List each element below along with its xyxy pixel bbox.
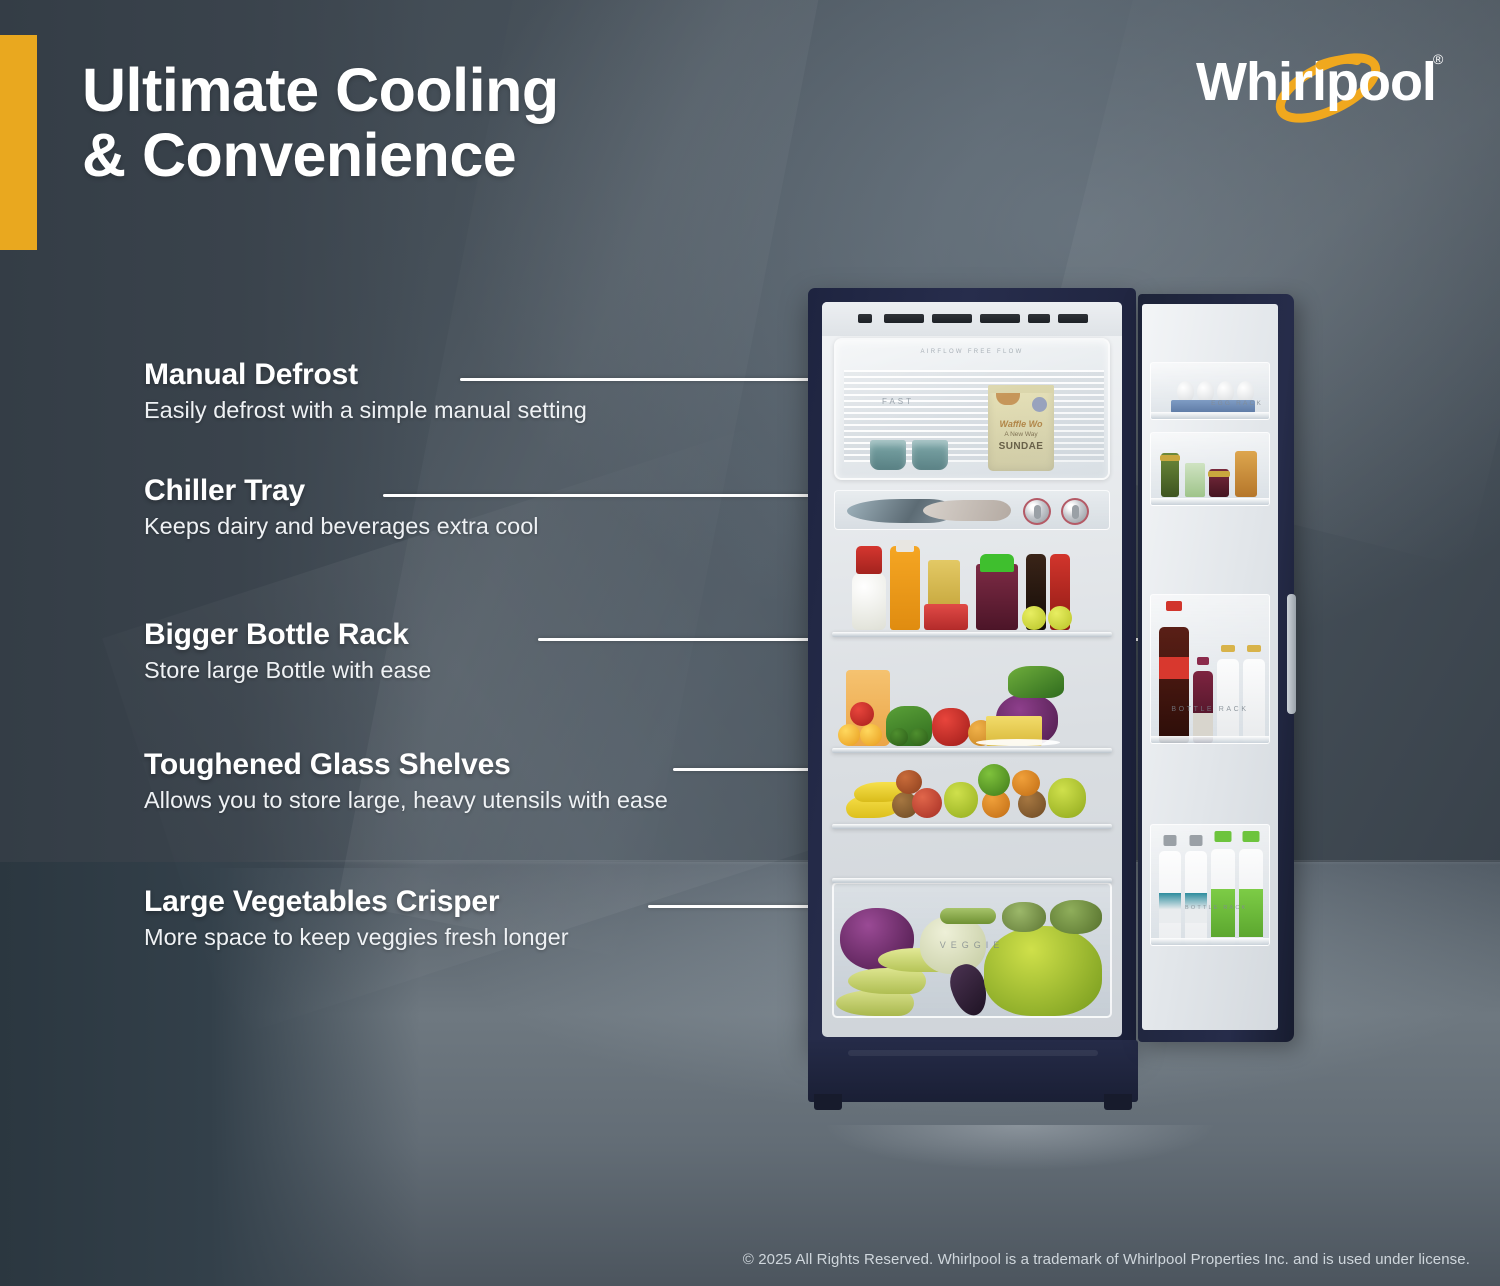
jar-lid — [980, 554, 1014, 572]
vent-slot — [1028, 314, 1050, 323]
ice-bowl — [870, 440, 906, 470]
infographic-canvas: Ultimate Cooling & Convenience Whirlpool… — [0, 0, 1500, 1286]
pickle-jar — [928, 560, 960, 608]
ice-cream-tub: Waffle Wo A New Way SUNDAE — [988, 385, 1054, 471]
grape-jar — [976, 564, 1018, 630]
feature-title: Manual Defrost — [144, 358, 587, 392]
feature-bigger-bottle-rack: Bigger Bottle Rack Store large Bottle wi… — [144, 618, 431, 684]
glass-shelf — [832, 632, 1112, 637]
jar-lid — [1160, 455, 1180, 461]
bottle-cap — [1197, 657, 1209, 665]
cola-bottle — [1159, 627, 1189, 743]
feature-description: Store large Bottle with ease — [144, 657, 431, 684]
tub-lid — [988, 385, 1054, 393]
bottle-cap — [1243, 831, 1260, 842]
kiwi — [896, 770, 922, 794]
milk-bottle — [1243, 659, 1265, 743]
door-bin-egg-rack: EGG RACK — [1150, 362, 1270, 420]
leader-line-chiller-tray — [383, 494, 867, 497]
airflow-label: AIRFLOW FREE FLOW — [836, 349, 1108, 355]
floor-reflection — [760, 1125, 1280, 1245]
cheese-plate — [976, 739, 1060, 746]
door-bin-bottle-rack: BOTTLE RACK — [1150, 594, 1270, 744]
tub-label-line-1: Waffle Wo — [988, 419, 1054, 429]
refrigerator-product-image: Waffle Wo A New Way SUNDAE AIRFLOW FREE … — [808, 288, 1294, 1100]
leafy-greens — [1008, 666, 1064, 698]
base-groove — [848, 1050, 1098, 1056]
mushroom-pack — [852, 572, 886, 630]
chiller-tray — [834, 490, 1110, 530]
green-label — [1211, 889, 1235, 937]
tub-badge-icon — [1032, 397, 1047, 412]
bottle-cap — [1164, 835, 1177, 846]
refrigerator-interior: Waffle Wo A New Way SUNDAE AIRFLOW FREE … — [822, 302, 1122, 1037]
orange — [838, 724, 860, 746]
shelf-zone-produce — [836, 642, 1108, 746]
whirlpool-logo: Whirlpool ® — [1190, 38, 1458, 128]
bottle-cap — [1247, 645, 1261, 652]
bin-lip — [1151, 412, 1269, 419]
jar-lid — [1208, 471, 1230, 477]
crisper-top-rail — [832, 878, 1112, 883]
egg-rack-label: EGG RACK — [1211, 400, 1263, 407]
refrigerator-foot — [814, 1094, 842, 1110]
juice-label — [1193, 713, 1213, 737]
logo-wordmark: Whirlpool — [1196, 52, 1436, 112]
vent-slot — [932, 314, 972, 323]
door-interior: EGG RACK BOTTLE RACK — [1142, 304, 1278, 1030]
lime — [890, 728, 908, 746]
feature-large-vegetables-crisper: Large Vegetables Crisper More space to k… — [144, 885, 569, 951]
vent-slot — [884, 314, 924, 323]
orange — [860, 724, 882, 746]
green-cabbage — [1002, 902, 1046, 932]
bell-pepper — [932, 708, 970, 746]
pear — [944, 782, 978, 818]
vent-slot — [980, 314, 1020, 323]
feature-chiller-tray: Chiller Tray Keeps dairy and beverages e… — [144, 474, 539, 540]
cola-label — [1159, 657, 1189, 679]
yogurt-tub — [1185, 463, 1205, 497]
refrigerator-door[interactable]: EGG RACK BOTTLE RACK — [1138, 294, 1294, 1042]
apple-green — [978, 764, 1010, 796]
vent-slot — [1058, 314, 1088, 323]
bottle-cap — [1166, 601, 1182, 611]
bottle-rack-label: BOTTLE RACK — [1151, 706, 1269, 713]
fast-freeze-label: FAST — [882, 397, 914, 406]
lime — [910, 728, 928, 746]
feature-title: Chiller Tray — [144, 474, 539, 508]
apple-green — [1048, 778, 1086, 818]
feature-description: Keeps dairy and beverages extra cool — [144, 513, 539, 540]
water-label — [1159, 893, 1181, 923]
registered-mark: ® — [1433, 51, 1444, 67]
vent-slot — [858, 314, 872, 323]
bin-lip — [1151, 498, 1269, 505]
door-bin-jars — [1150, 432, 1270, 506]
feature-title: Bigger Bottle Rack — [144, 618, 431, 652]
green-cabbage — [1050, 900, 1102, 934]
tomato — [850, 702, 874, 726]
footer-copyright: © 2025 All Rights Reserved. Whirlpool is… — [0, 1251, 1470, 1268]
bottle-cap — [1190, 835, 1203, 846]
bin-lip — [1151, 938, 1269, 945]
fish-item — [923, 500, 1011, 521]
door-bin-lower-bottles: BOTTLE RACK — [1150, 824, 1270, 946]
tub-drip — [996, 393, 1020, 405]
accent-bar — [0, 35, 37, 250]
feature-title: Toughened Glass Shelves — [144, 748, 668, 782]
lemon — [1022, 606, 1046, 630]
juice-bottle — [890, 546, 920, 630]
shelf-zone-fruit — [836, 758, 1108, 818]
green-label — [1239, 889, 1263, 937]
tub-label-line-2: A New Way — [988, 431, 1054, 438]
bottle-cap — [896, 540, 914, 552]
soda-can — [1061, 498, 1089, 525]
freezer-compartment: Waffle Wo A New Way SUNDAE AIRFLOW FREE … — [834, 338, 1110, 480]
cucumber — [940, 908, 996, 924]
apple-red — [912, 788, 942, 818]
refrigerator-cabinet: Waffle Wo A New Way SUNDAE AIRFLOW FREE … — [808, 288, 1136, 1048]
tub-label-line-3: SUNDAE — [988, 441, 1054, 452]
strawberry-punnet — [924, 604, 968, 630]
crisper-label: VEGGIE — [834, 940, 1110, 950]
bottle-cap — [1221, 645, 1235, 652]
glass-shelf — [832, 748, 1112, 753]
soda-can — [1023, 498, 1051, 525]
orange — [1012, 770, 1040, 796]
bottle-cap — [1215, 831, 1232, 842]
feature-description: More space to keep veggies fresh longer — [144, 924, 569, 951]
page-title-line-2: & Convenience — [82, 123, 802, 188]
shelf-zone-condiments — [836, 538, 1108, 630]
milk-bottle — [1217, 659, 1239, 743]
refrigerator-foot — [1104, 1094, 1132, 1110]
cereal-container — [1235, 451, 1257, 497]
lemon — [1048, 606, 1072, 630]
vegetable-crisper-drawer[interactable]: VEGGIE — [832, 882, 1112, 1018]
feature-description: Allows you to store large, heavy utensil… — [144, 787, 668, 814]
bin-lip — [1151, 736, 1269, 743]
sauce-bottle — [856, 546, 882, 574]
refrigerator-base — [808, 1040, 1138, 1102]
feature-description: Easily defrost with a simple manual sett… — [144, 397, 587, 424]
feature-manual-defrost: Manual Defrost Easily defrost with a sim… — [144, 358, 587, 424]
ice-bowl — [912, 440, 948, 470]
page-title: Ultimate Cooling & Convenience — [82, 58, 802, 189]
page-title-line-1: Ultimate Cooling — [82, 56, 559, 124]
feature-title: Large Vegetables Crisper — [144, 885, 569, 919]
lower-bottle-rack-label: BOTTLE RACK — [1185, 905, 1247, 911]
glass-shelf — [832, 824, 1112, 829]
feature-toughened-glass-shelves: Toughened Glass Shelves Allows you to st… — [144, 748, 668, 814]
door-handle[interactable] — [1287, 594, 1296, 714]
